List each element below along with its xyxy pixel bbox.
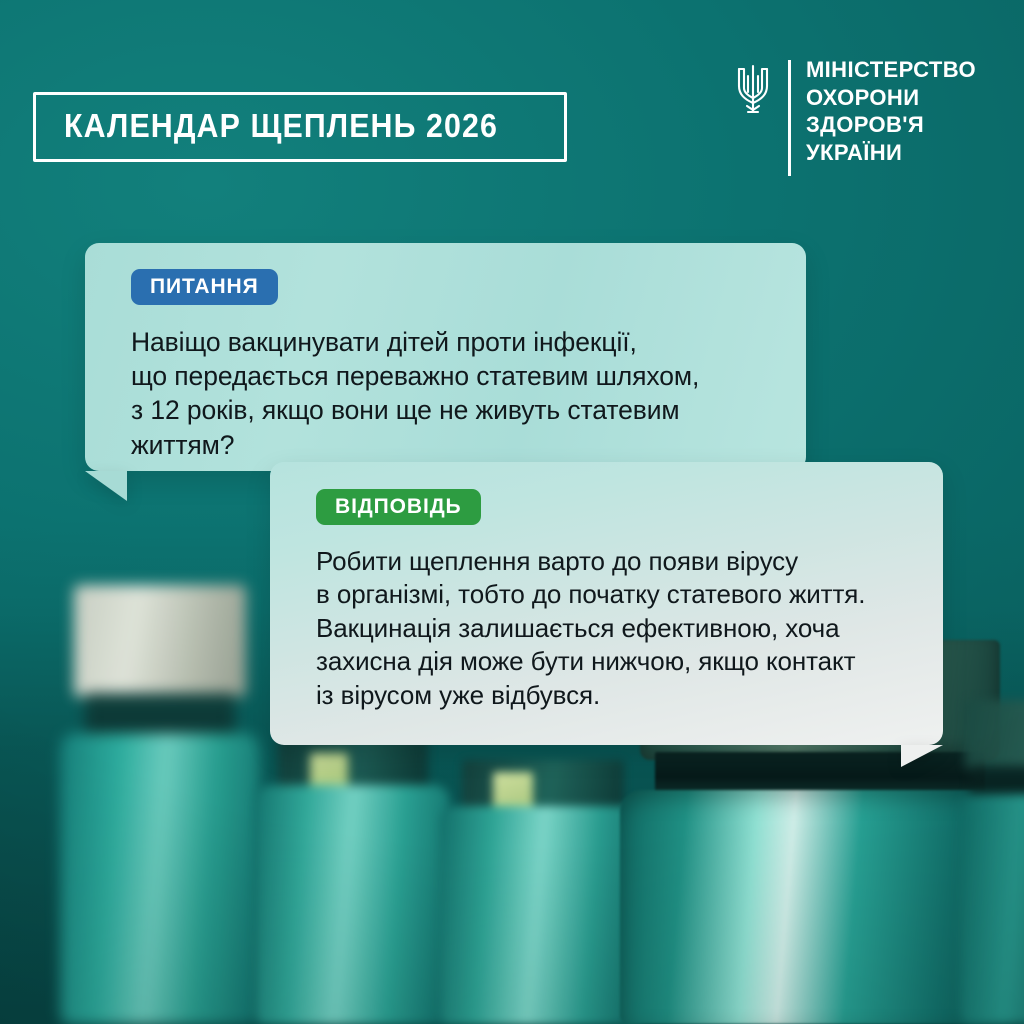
question-bubble-content: ПИТАННЯ Навіщо вакцинувати дітей проти і…	[85, 243, 806, 471]
vial-body	[255, 785, 450, 1024]
vial-neck	[970, 766, 1024, 796]
vial-cap	[462, 760, 624, 808]
vaccine-vial	[440, 760, 645, 1024]
ministry-logo: МІНІСТЕРСТВО ОХОРОНИ ЗДОРОВ'Я УКРАЇНИ	[733, 58, 976, 176]
question-badge: ПИТАННЯ	[131, 269, 278, 305]
page-title: КАЛЕНДАР ЩЕПЛЕНЬ 2026	[64, 109, 498, 142]
ministry-name-line: ОХОРОНИ	[806, 86, 976, 111]
vaccination-calendar-poster: КАЛЕНДАР ЩЕПЛЕНЬ 2026 МІНІСТЕРСТВО ОХОРО…	[0, 0, 1024, 1024]
answer-text-line: Робити щеплення варто до появи вірусу	[316, 545, 943, 578]
vaccine-vial	[60, 585, 260, 1024]
ukraine-trident-icon	[733, 62, 773, 116]
vial-cap	[965, 700, 1024, 770]
question-bubble-tail	[85, 471, 127, 501]
answer-text-line: захисна дія може бути нижчою, якщо конта…	[316, 645, 943, 678]
ministry-name-line: МІНІСТЕРСТВО	[806, 58, 976, 83]
poster-title-box: КАЛЕНДАР ЩЕПЛЕНЬ 2026	[33, 92, 567, 162]
vaccine-vial	[255, 735, 450, 1024]
question-bubble: ПИТАННЯ Навіщо вакцинувати дітей проти і…	[85, 243, 806, 471]
question-text-line: Навіщо вакцинувати дітей проти інфекції,	[131, 325, 806, 359]
ministry-name-line: УКРАЇНИ	[806, 141, 976, 166]
answer-text-line: в організмі, тобто до початку статевого …	[316, 578, 943, 611]
ministry-name-line: ЗДОРОВ'Я	[806, 113, 976, 138]
answer-bubble-content: ВІДПОВІДЬ Робити щеплення варто до появи…	[270, 462, 943, 745]
answer-text: Робити щеплення варто до появи вірусу в …	[316, 545, 943, 712]
ministry-name: МІНІСТЕРСТВО ОХОРОНИ ЗДОРОВ'Я УКРАЇНИ	[806, 58, 976, 166]
answer-bubble: ВІДПОВІДЬ Робити щеплення варто до появи…	[270, 462, 943, 745]
logo-divider	[788, 60, 791, 176]
vial-tip	[310, 753, 348, 789]
question-text-line: що передається переважно статевим шляхом…	[131, 359, 806, 393]
vial-tip	[493, 772, 533, 810]
vial-body	[440, 806, 645, 1024]
answer-bubble-tail	[901, 745, 943, 767]
answer-text-line: із вірусом уже відбувся.	[316, 679, 943, 712]
vial-body	[960, 794, 1024, 1024]
answer-text-line: Вакцинація залишається ефективною, хоча	[316, 612, 943, 645]
question-text-line: життям?	[131, 428, 806, 462]
question-text: Навіщо вакцинувати дітей проти інфекції,…	[131, 325, 806, 462]
answer-badge: ВІДПОВІДЬ	[316, 489, 481, 525]
question-text-line: з 12 років, якщо вони ще не живуть стате…	[131, 393, 806, 427]
vial-body	[60, 733, 260, 1024]
vaccine-vial	[960, 700, 1024, 1024]
vial-cap	[74, 585, 246, 697]
